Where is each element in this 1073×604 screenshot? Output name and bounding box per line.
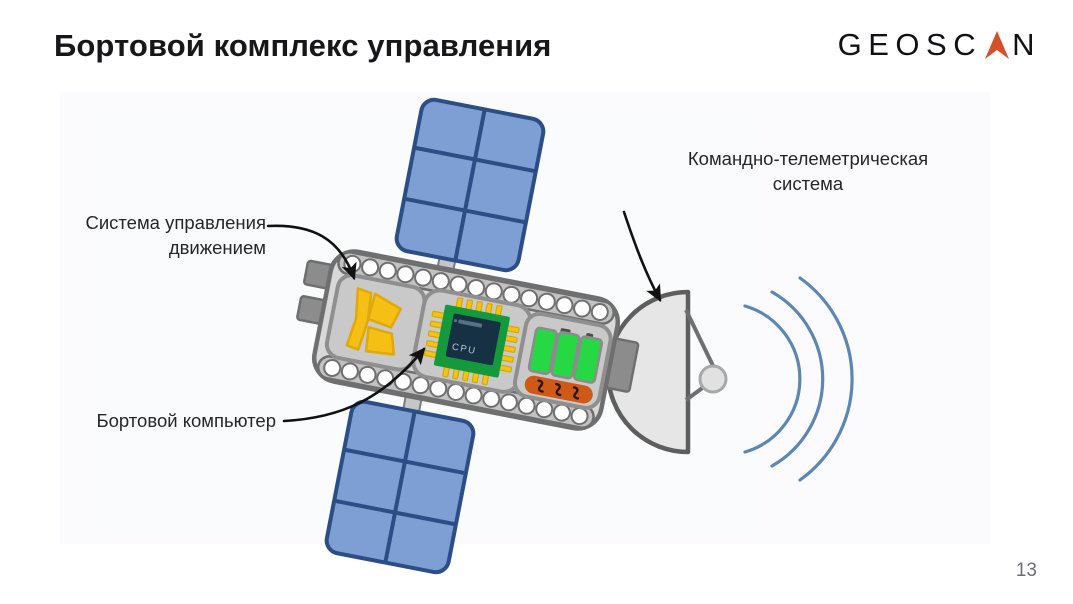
solar-panel-upper — [394, 98, 545, 273]
signal-arc-1 — [745, 306, 800, 452]
bay-power-batteries — [513, 311, 613, 410]
bay-attitude-control — [324, 273, 426, 372]
satellite-body: CPU — [287, 243, 646, 437]
slide-root: Бортовой комплекс управления GEOSC N Сис… — [0, 0, 1073, 604]
signal-arc-3 — [800, 278, 852, 480]
signal-arc-2 — [772, 292, 823, 466]
satellite-diagram: CPU — [0, 0, 1073, 604]
signal-waves — [745, 278, 852, 480]
solar-panel-lower — [324, 400, 475, 575]
antenna-feed-horn — [700, 366, 726, 392]
arrow-command-telemetry — [624, 212, 660, 300]
